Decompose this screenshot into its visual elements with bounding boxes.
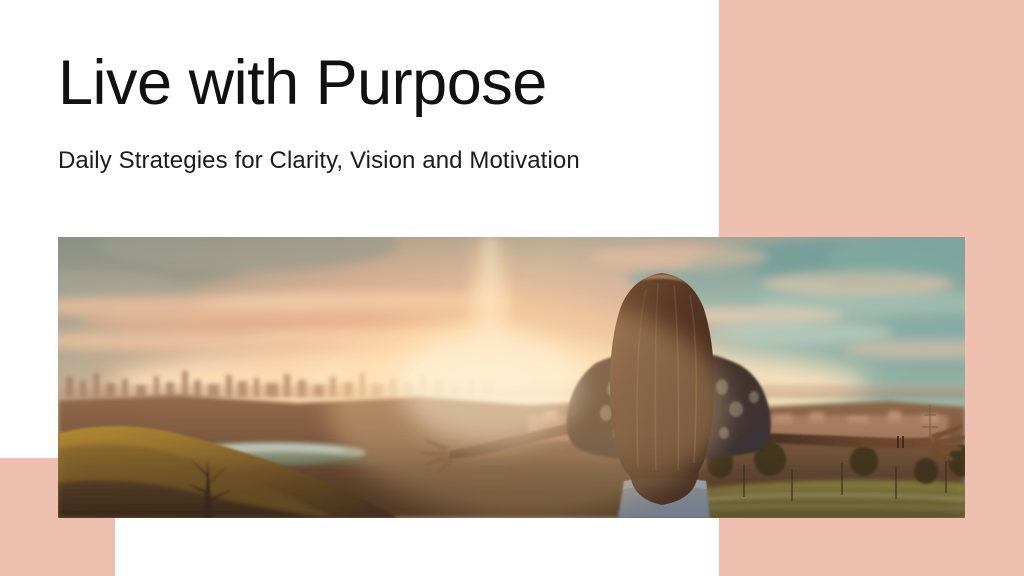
page-title: Live with Purpose xyxy=(58,52,698,115)
title-area: Live with Purpose Daily Strategies for C… xyxy=(58,52,698,176)
hero-photo xyxy=(58,237,965,518)
slide-canvas: Live with Purpose Daily Strategies for C… xyxy=(0,0,1024,576)
hero-photo-artwork xyxy=(58,237,965,518)
page-subtitle: Daily Strategies for Clarity, Vision and… xyxy=(58,115,698,176)
